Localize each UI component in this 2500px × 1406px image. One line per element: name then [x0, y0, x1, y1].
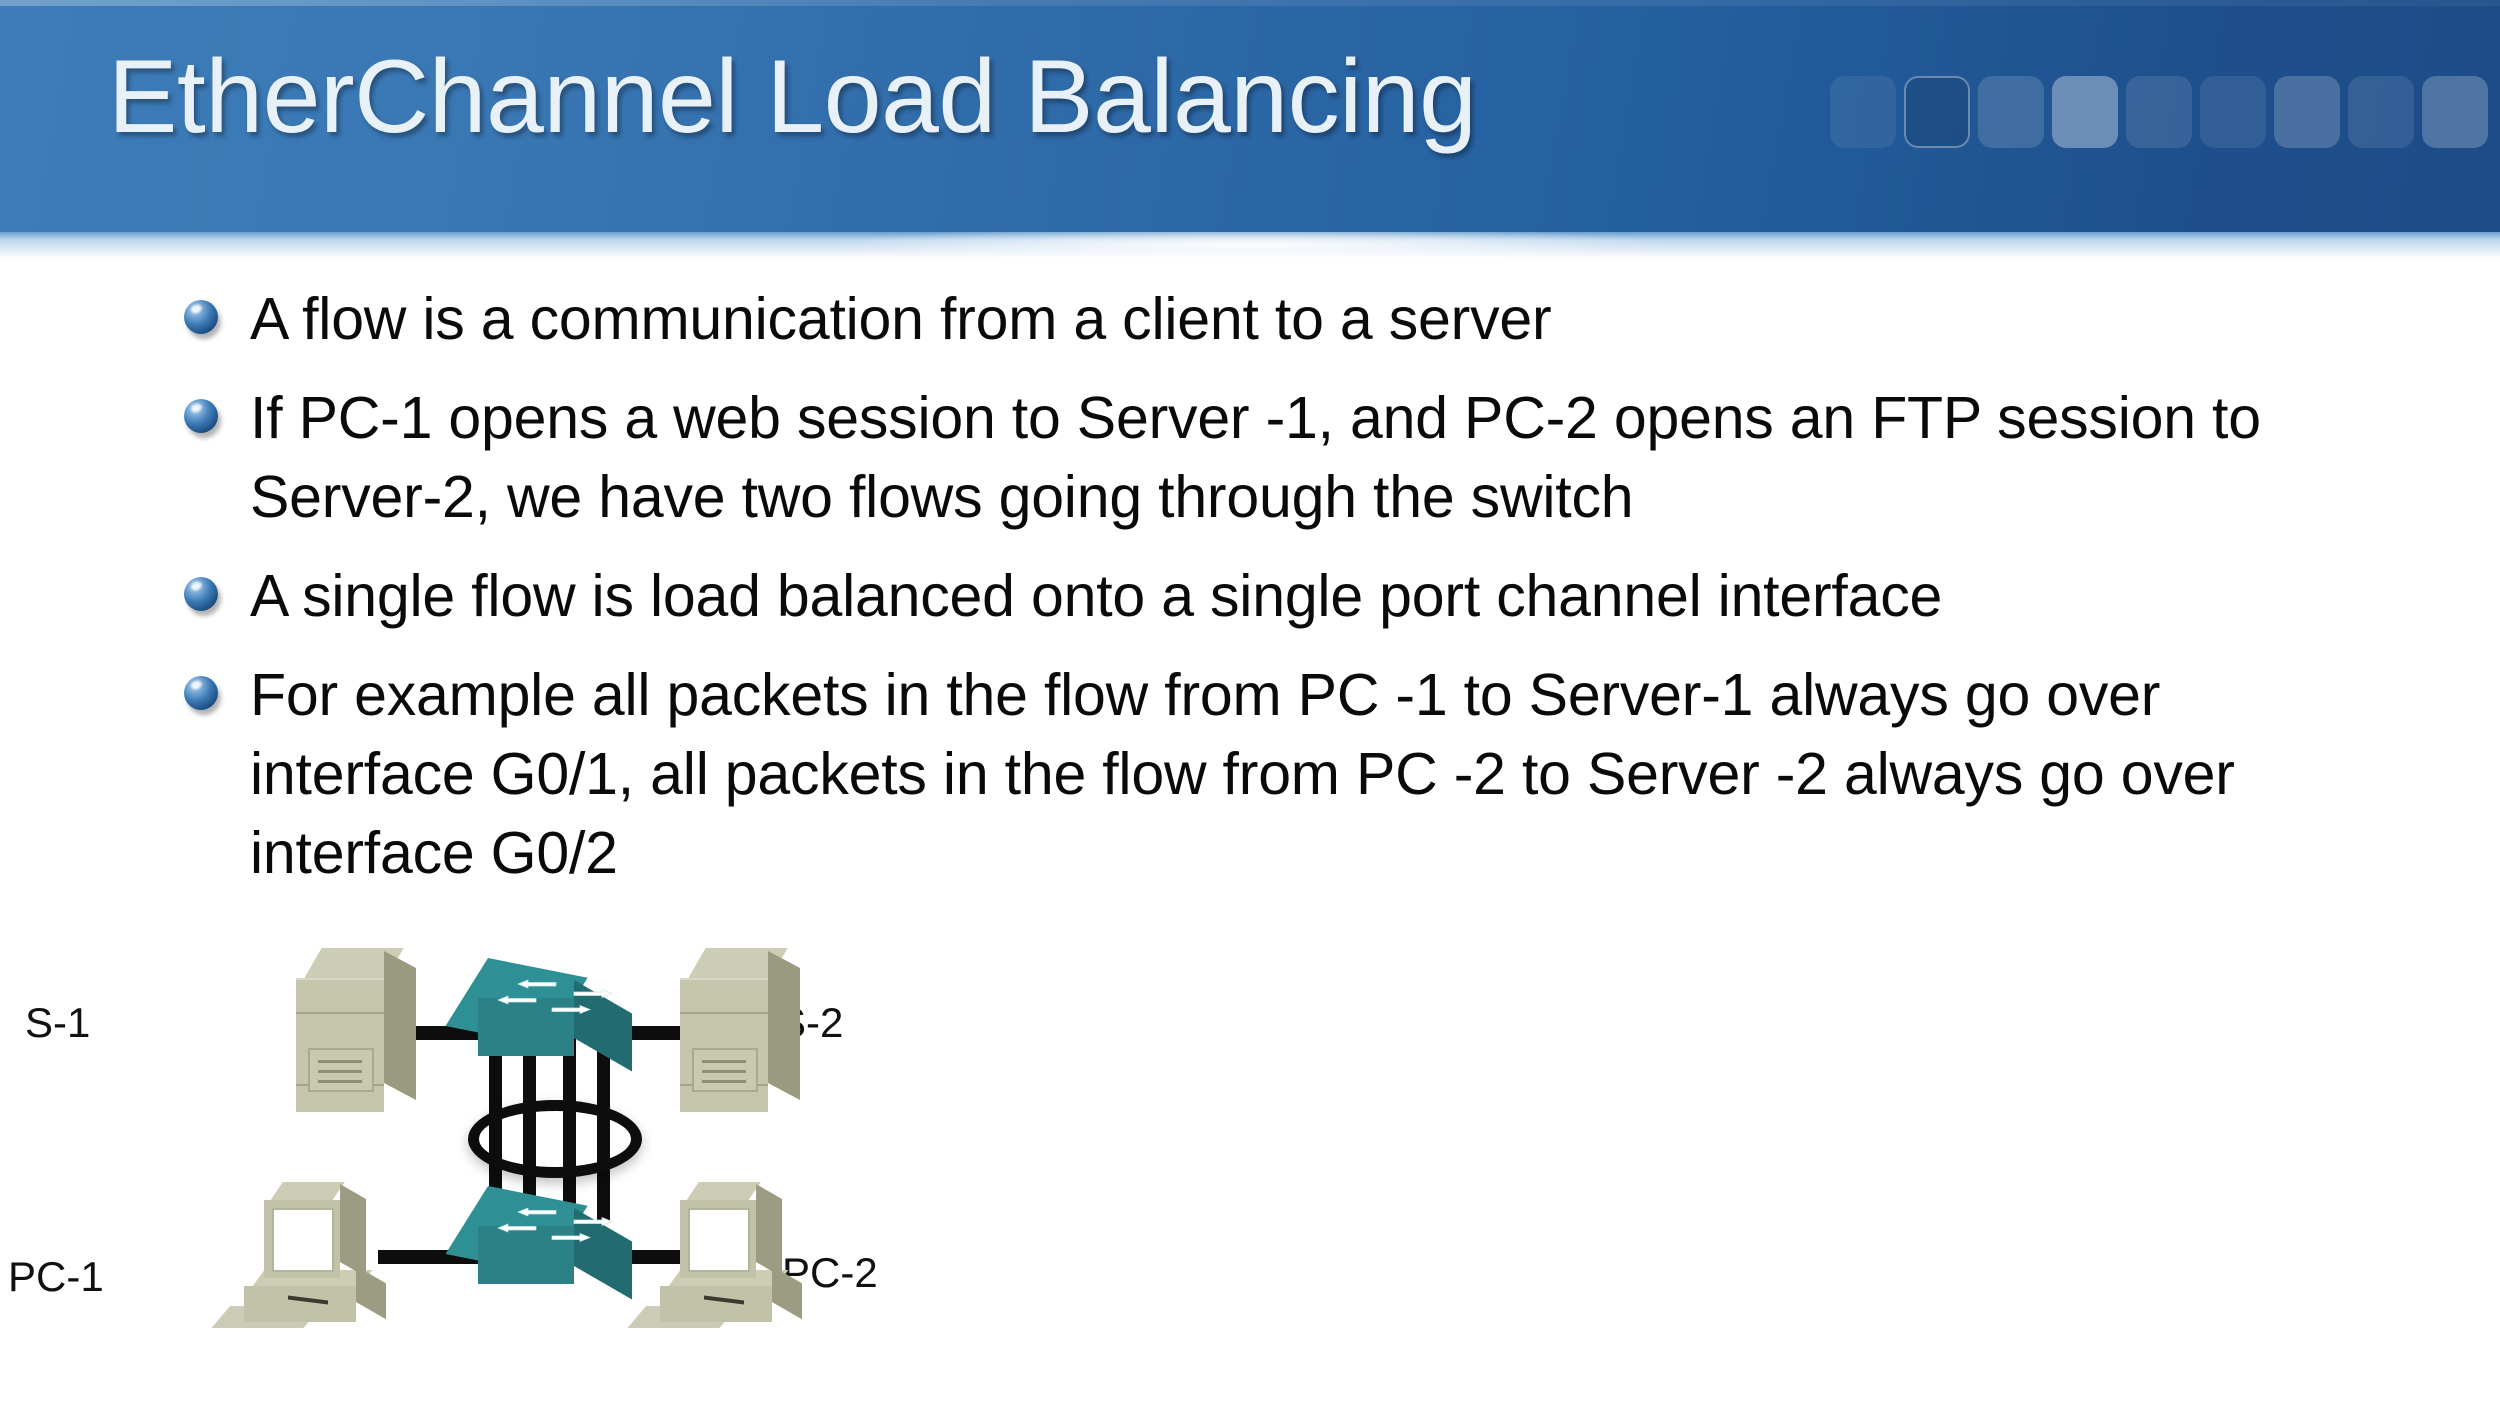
- server-side-face: [768, 951, 800, 1100]
- list-item: A flow is a communication from a client …: [0, 280, 2500, 359]
- page-title: EtherChannel Load Balancing: [108, 38, 1476, 156]
- server-panel: [692, 1048, 758, 1092]
- header-square-8-icon: [2348, 76, 2414, 148]
- server-2-icon: [680, 948, 808, 1128]
- header-underband-sheen: [0, 232, 2500, 258]
- pc-monitor-side-face: [756, 1184, 782, 1277]
- list-item: A single flow is load balanced onto a si…: [0, 557, 2500, 636]
- bullet-text: A flow is a communication from a client …: [250, 280, 1551, 359]
- list-item: For example all packets in the flow from…: [0, 656, 2500, 893]
- switch-side-face: [574, 1208, 632, 1299]
- sphere-bullet-icon: [184, 300, 218, 334]
- server-front-face: [680, 978, 768, 1112]
- header-square-3-icon: [1978, 76, 2044, 148]
- header-square-7-icon: [2274, 76, 2340, 148]
- server-side-face: [384, 951, 416, 1100]
- bullet-text: If PC-1 opens a web session to Server -1…: [250, 379, 2320, 537]
- switch-side-face: [574, 980, 632, 1071]
- slide-header: EtherChannel Load Balancing: [0, 0, 2500, 232]
- bullet-text: For example all packets in the flow from…: [250, 656, 2320, 893]
- server-front-face: [296, 978, 384, 1112]
- header-square-9-icon: [2422, 76, 2488, 148]
- sphere-bullet-icon: [184, 676, 218, 710]
- switch-front-face: [478, 1226, 574, 1284]
- switch-bottom-icon: [478, 1186, 638, 1304]
- server-panel: [308, 1048, 374, 1092]
- switch-front-face: [478, 998, 574, 1056]
- pc-1-icon: [244, 1174, 404, 1334]
- header-square-4-icon: [2052, 76, 2118, 148]
- pc-1-label: PC-1: [8, 1254, 104, 1300]
- pc-monitor-side-face: [340, 1184, 366, 1277]
- header-square-2-icon: [1904, 76, 1970, 148]
- list-item: If PC-1 opens a web session to Server -1…: [0, 379, 2500, 537]
- header-square-1-icon: [1830, 76, 1896, 148]
- switch-top-icon: [478, 958, 638, 1076]
- pc-case-front-face: [660, 1286, 772, 1322]
- pc-case-front-face: [244, 1286, 356, 1322]
- server-1-label: S-1: [25, 1000, 90, 1046]
- header-square-5-icon: [2126, 76, 2192, 148]
- header-square-6-icon: [2200, 76, 2266, 148]
- server-1-icon: [296, 948, 424, 1128]
- sphere-bullet-icon: [184, 399, 218, 433]
- header-decorative-squares: [1830, 76, 2500, 148]
- pc-screen: [688, 1208, 750, 1272]
- header-top-sheen: [0, 0, 2500, 6]
- pc-2-icon: [660, 1174, 820, 1334]
- bullet-text: A single flow is load balanced onto a si…: [250, 557, 1942, 636]
- pc-screen: [272, 1208, 334, 1272]
- sphere-bullet-icon: [184, 577, 218, 611]
- bullet-list: A flow is a communication from a client …: [0, 280, 2500, 913]
- etherchannel-bundle-ring-icon: [468, 1100, 642, 1178]
